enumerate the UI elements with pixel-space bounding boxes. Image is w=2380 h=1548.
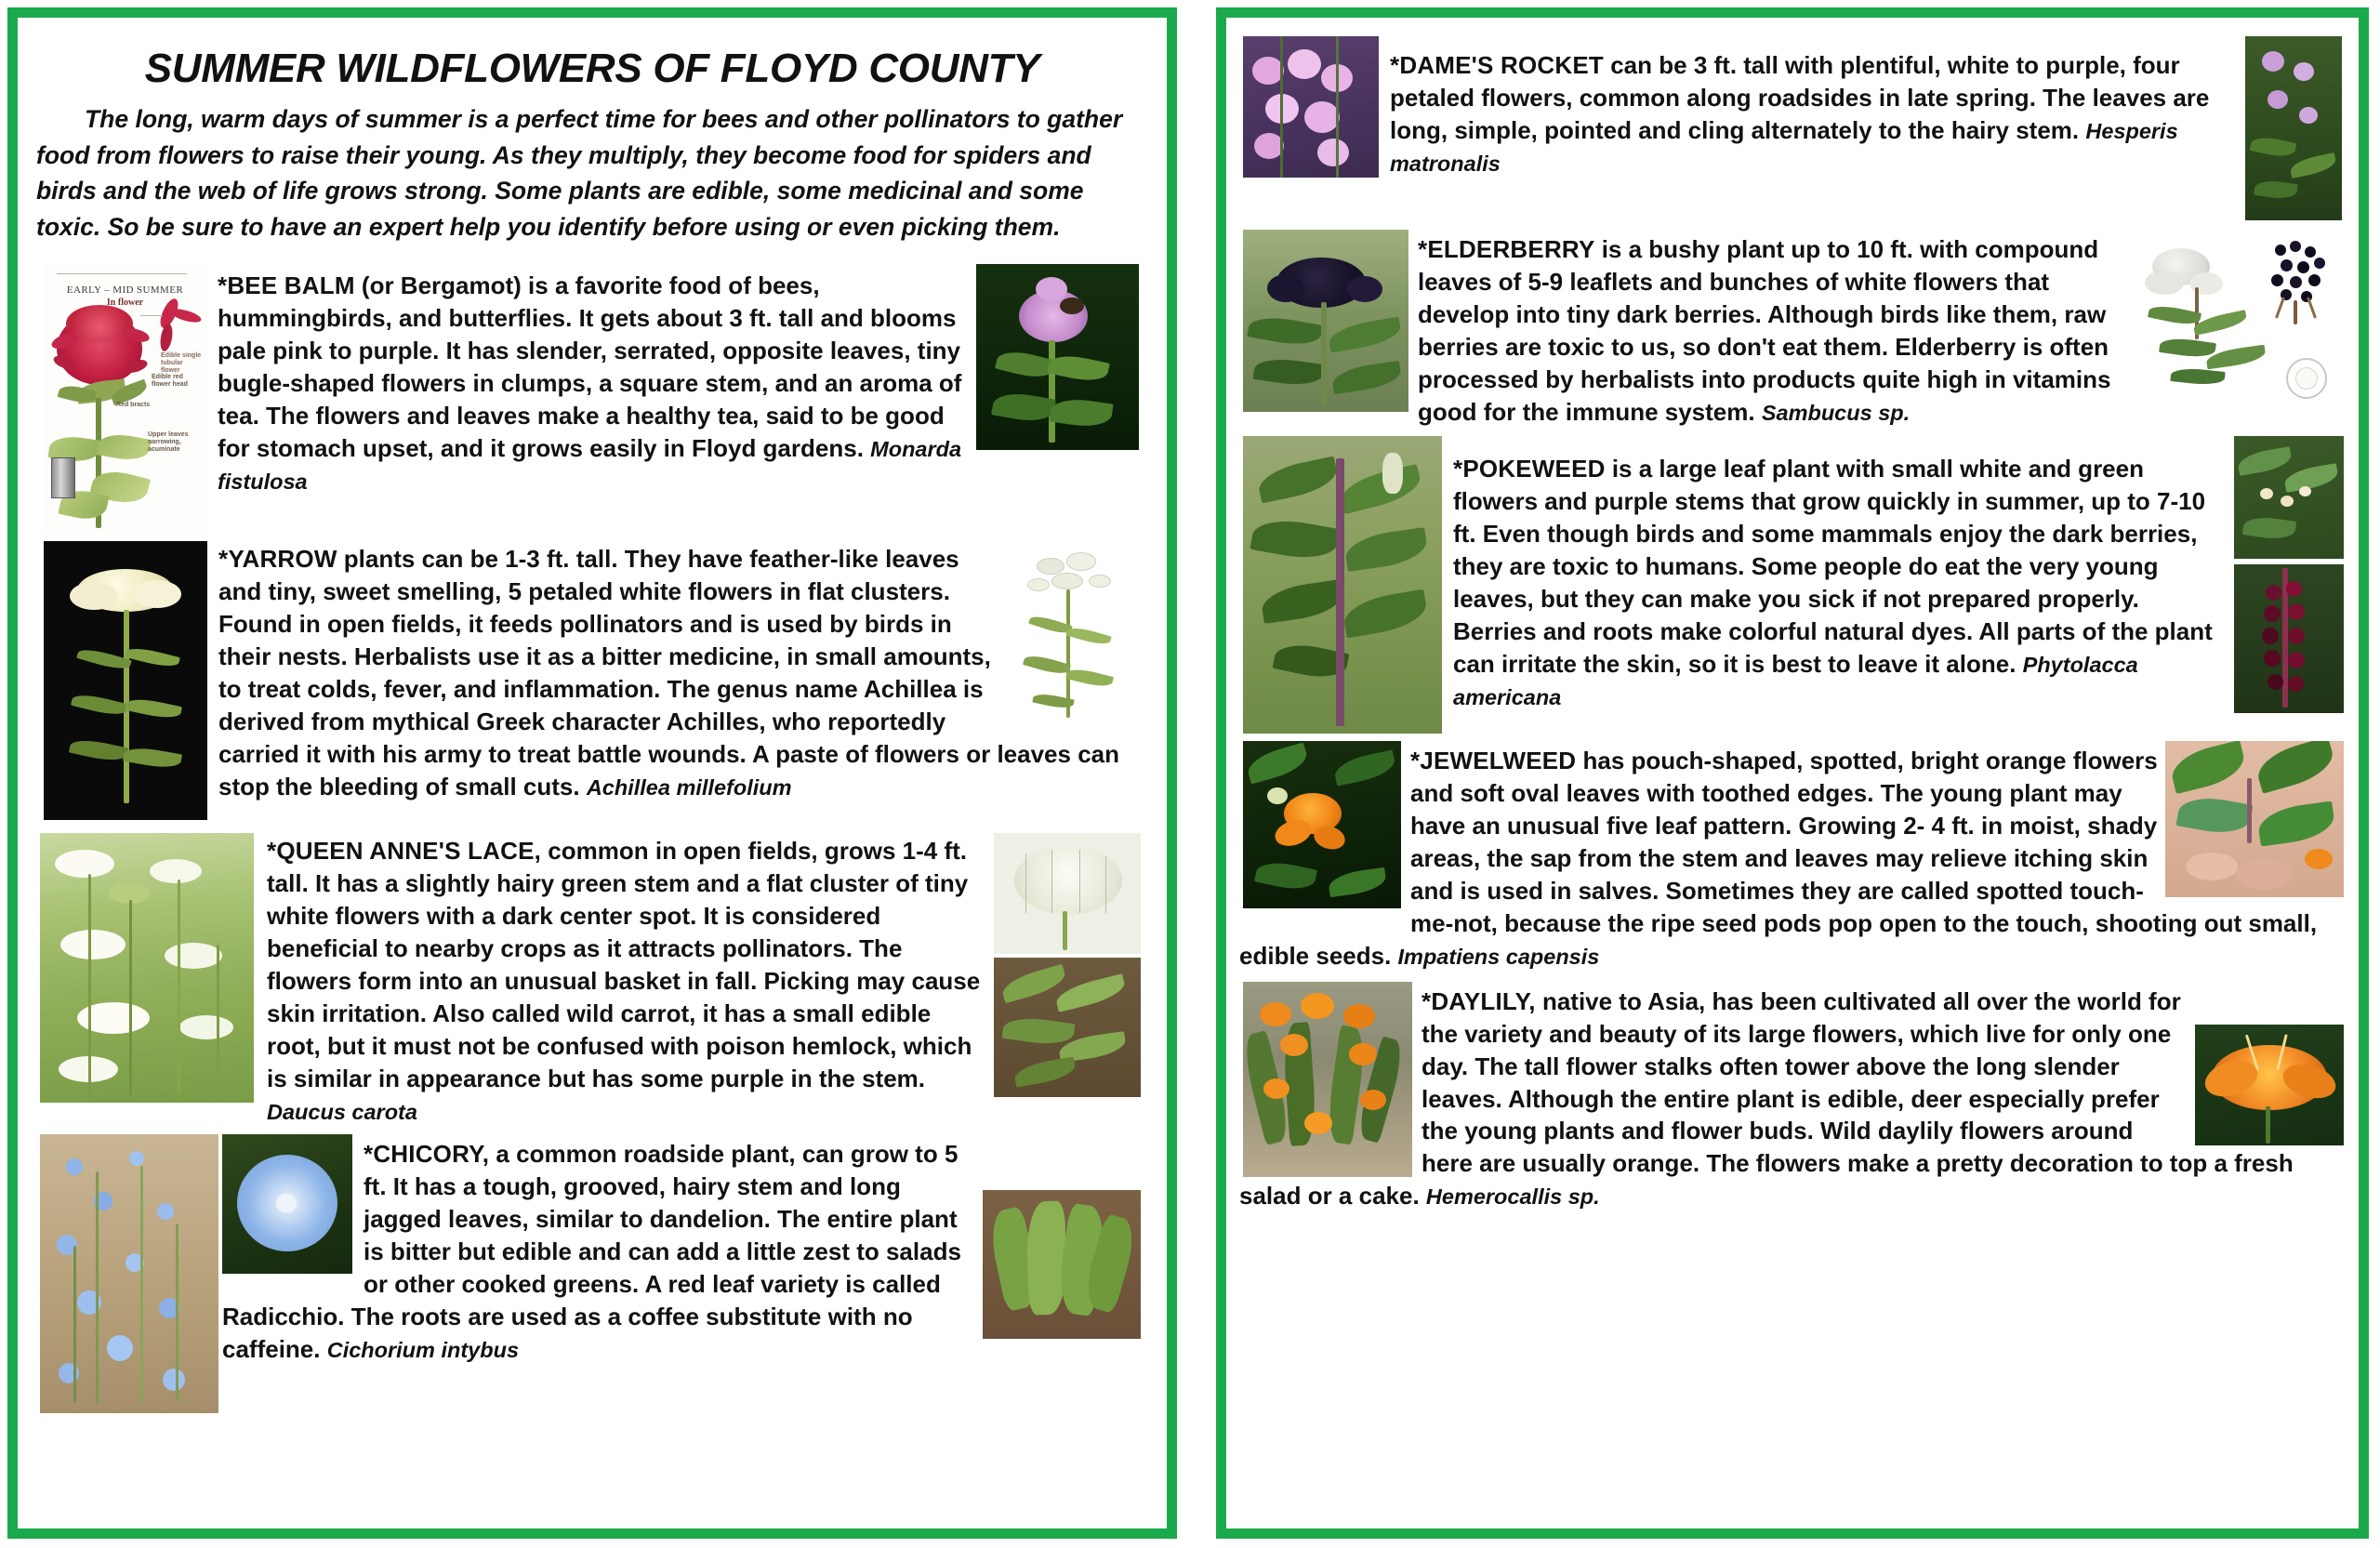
dames-rocket-flowers-photo <box>1243 36 1379 178</box>
jewelweed-latin: Impatiens capensis <box>1398 945 1600 969</box>
queen-annes-lace-title: *QUEEN ANNE'S LACE, <box>267 837 541 865</box>
right-panel: *DAME'S ROCKET can be 3 ft. tall with pl… <box>1216 7 2369 1539</box>
daylily-flower-closeup-photo <box>2195 1025 2344 1145</box>
entry-jewelweed: *JEWELWEED has pouch-shaped, spotted, br… <box>1239 739 2346 972</box>
queen-annes-lace-field-photo <box>40 833 254 1103</box>
pokeweed-flowers-photo <box>2234 436 2344 559</box>
chicory-field-photo <box>40 1134 218 1413</box>
pokeweed-body: is a large leaf plant with small white a… <box>1453 455 2213 678</box>
illustration-season-label: EARLY – MID SUMMER <box>44 284 206 296</box>
yarrow-body: plants can be 1-3 ft. tall. They have fe… <box>218 545 1119 800</box>
pokeweed-plant-photo <box>1243 436 1442 734</box>
dames-rocket-text: *DAME'S ROCKET can be 3 ft. tall with pl… <box>1239 49 2340 179</box>
illustration-callout-a: Edible single tubular flower <box>161 352 202 375</box>
bee-balm-body: (or Bergamot) is a favorite food of bees… <box>218 271 961 462</box>
dames-rocket-title: *DAME'S ROCKET <box>1390 51 1604 79</box>
bee-balm-photo <box>976 264 1139 450</box>
yarrow-title: *YARROW <box>218 545 337 573</box>
page-title: SUMMER WILDFLOWERS OF FLOYD COUNTY <box>31 46 1154 92</box>
daylily-clump-photo <box>1243 982 1412 1177</box>
chicory-flower-closeup-photo <box>222 1134 352 1274</box>
illustration-season-sublabel: In flower <box>44 298 206 308</box>
elderberry-latin: Sambucus sp. <box>1762 401 1910 425</box>
elderberry-botanical-illustration <box>2139 230 2344 412</box>
elderberry-body: is a bushy plant up to 10 ft. with compo… <box>1418 235 2110 426</box>
entry-pokeweed: *POKEWEED is a large leaf plant with sma… <box>1239 434 2346 734</box>
jewelweed-flower-photo <box>1243 741 1401 908</box>
yarrow-latin: Achillea millefolium <box>587 775 792 800</box>
elderberry-berries-photo <box>1243 230 1408 412</box>
entry-queen-annes-lace: *QUEEN ANNE'S LACE, common in open field… <box>31 829 1154 1128</box>
queen-annes-lace-seed-basket-photo <box>994 833 1141 954</box>
pokeweed-title: *POKEWEED <box>1453 455 1606 483</box>
chicory-rosette-leaves-photo <box>983 1190 1141 1339</box>
entry-dames-rocket: *DAME'S ROCKET can be 3 ft. tall with pl… <box>1239 29 2346 220</box>
bee-balm-title: *BEE BALM <box>218 271 355 299</box>
jewelweed-leaves-in-hand-photo <box>2165 741 2344 897</box>
entry-bee-balm: EARLY – MID SUMMER In flower Edible sing… <box>31 258 1154 534</box>
wildflower-poster: SUMMER WILDFLOWERS OF FLOYD COUNTY The l… <box>0 0 2380 1548</box>
illustration-callout-c: Red bracts <box>116 402 153 409</box>
jewelweed-title: *JEWELWEED <box>1410 747 1576 774</box>
yarrow-photo <box>44 541 207 820</box>
illustration-callout-d: Upper leaves narrowing, acuminate <box>148 431 200 454</box>
queen-annes-lace-foliage-photo <box>994 958 1141 1097</box>
queen-annes-lace-latin: Daucus carota <box>267 1100 417 1124</box>
dames-rocket-plants-photo <box>2245 36 2342 220</box>
chicory-latin: Cichorium intybus <box>327 1338 519 1362</box>
left-panel: SUMMER WILDFLOWERS OF FLOYD COUNTY The l… <box>7 7 1177 1539</box>
elderberry-title: *ELDERBERRY <box>1418 235 1594 263</box>
yarrow-botanical-illustration <box>1009 541 1139 736</box>
daylily-latin: Hemerocallis sp. <box>1426 1184 1600 1209</box>
daylily-title: *DAYLILY, <box>1421 987 1536 1015</box>
entry-chicory: *CHICORY, a common roadside plant, can g… <box>31 1132 1154 1413</box>
queen-annes-lace-body: common in open fields, grows 1-4 ft. tal… <box>267 837 980 1092</box>
chicory-title: *CHICORY, <box>364 1140 489 1168</box>
intro-paragraph: The long, warm days of summer is a perfe… <box>36 101 1146 245</box>
pokeweed-berries-photo <box>2234 564 2344 713</box>
entry-elderberry: *ELDERBERRY is a bushy plant up to 10 ft… <box>1239 228 2346 429</box>
bee-balm-botanical-illustration: EARLY – MID SUMMER In flower Edible sing… <box>44 264 206 534</box>
illustration-callout-b: Edible red flower head <box>152 374 198 389</box>
entry-yarrow: *YARROW plants can be 1-3 ft. tall. They… <box>31 537 1154 820</box>
entry-daylily: *DAYLILY, native to Asia, has been culti… <box>1239 980 2346 1213</box>
